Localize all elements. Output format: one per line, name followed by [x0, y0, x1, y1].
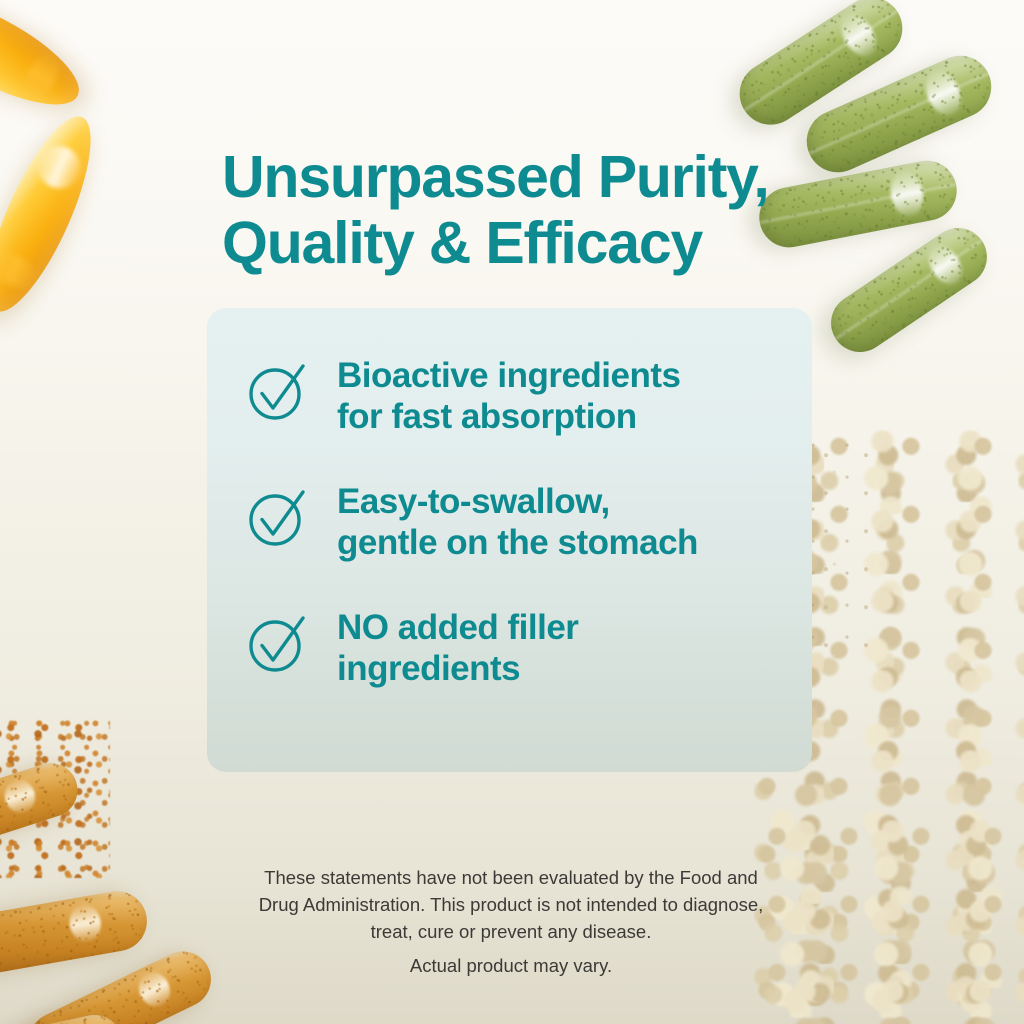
benefit-label: Easy-to-swallow, gentle on the stomach: [337, 480, 698, 564]
softgel-capsule: [0, 105, 110, 324]
benefits-card: Bioactive ingredients for fast absorptio…: [207, 308, 812, 772]
benefit-item: NO added filler ingredients: [245, 606, 788, 690]
supplement-benefits-infographic: Unsurpassed Purity, Quality & Efficacy B…: [0, 0, 1024, 1024]
benefit-item: Bioactive ingredients for fast absorptio…: [245, 354, 788, 438]
capsule-powder-texture: [0, 756, 85, 868]
benefits-list: Bioactive ingredients for fast absorptio…: [245, 354, 788, 690]
fda-disclaimer: These statements have not been evaluated…: [205, 864, 817, 945]
capsule-powder-texture: [728, 0, 914, 137]
benefit-label: Bioactive ingredients for fast absorptio…: [337, 354, 680, 438]
product-variance-note: Actual product may vary.: [205, 952, 817, 979]
capsule-powder-texture: [0, 886, 152, 981]
turmeric-capsule: [0, 756, 85, 868]
green-capsule: [820, 217, 998, 364]
headline-line-1: Unsurpassed Purity,: [222, 144, 769, 210]
benefit-label: NO added filler ingredients: [337, 606, 578, 690]
check-circle-icon: [245, 484, 311, 550]
check-circle-icon: [245, 610, 311, 676]
capsule-powder-texture: [20, 942, 221, 1024]
turmeric-capsule: [0, 886, 152, 981]
check-circle-icon: [245, 358, 311, 424]
capsule-powder-texture: [0, 1010, 128, 1024]
page-title: Unsurpassed Purity, Quality & Efficacy: [222, 144, 842, 276]
spilled-turmeric-powder: [0, 718, 110, 878]
turmeric-capsule: [20, 942, 221, 1024]
capsule-powder-texture: [820, 217, 998, 364]
softgel-capsule: [0, 0, 93, 125]
headline-line-2: Quality & Efficacy: [222, 210, 842, 276]
turmeric-capsule: [0, 1010, 128, 1024]
benefit-item: Easy-to-swallow, gentle on the stomach: [245, 480, 788, 564]
green-capsule: [728, 0, 914, 137]
